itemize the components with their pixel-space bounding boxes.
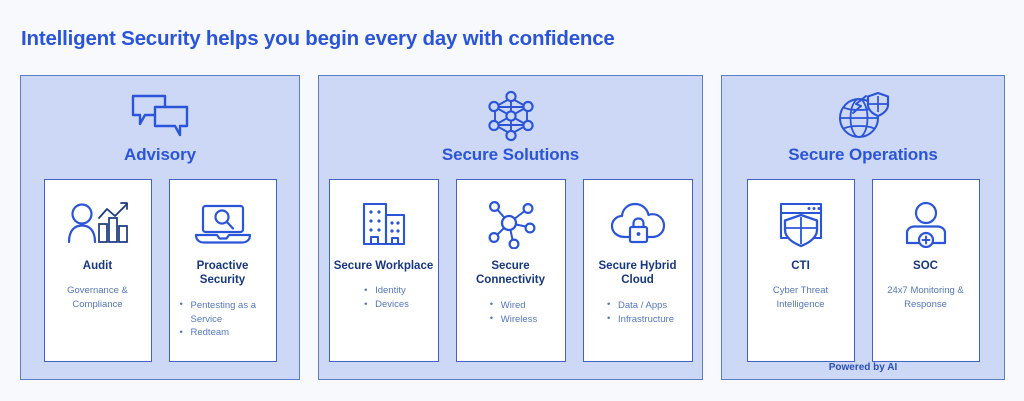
list-item: Pentesting as a Service: [180, 299, 272, 327]
card-cti[interactable]: CTI Cyber Threat Intelligence: [747, 179, 855, 362]
card-secure-connectivity[interactable]: Secure Connectivity Wired Wireless: [456, 179, 566, 362]
cards-secure-solutions: Secure Workplace Identity Devices: [329, 179, 693, 362]
person-bar-chart-icon: [65, 198, 131, 250]
card-list-secure-connectivity: Wired Wireless: [480, 299, 541, 327]
list-item: Wireless: [490, 313, 537, 327]
panel-advisory: Advisory Audit Governance & Comp: [20, 75, 300, 380]
card-title-audit: Audit: [79, 259, 116, 273]
card-list-proactive-security: Pentesting as a Service Redteam: [170, 299, 276, 340]
hub-nodes-icon: [485, 198, 537, 250]
card-desc-cti: Cyber Threat Intelligence: [748, 284, 854, 312]
card-title-secure-connectivity: Secure Connectivity: [457, 259, 565, 288]
panel-title-advisory: Advisory: [124, 145, 196, 165]
card-secure-workplace[interactable]: Secure Workplace Identity Devices: [329, 179, 439, 362]
list-item: Wired: [490, 299, 537, 313]
panels-row: Advisory Audit Governance & Comp: [20, 75, 1005, 380]
laptop-magnifier-icon: [193, 198, 253, 250]
person-badge-icon: [900, 198, 952, 250]
list-item: Devices: [364, 298, 409, 312]
card-title-soc: SOC: [909, 259, 942, 273]
list-item: Identity: [364, 284, 409, 298]
card-title-secure-workplace: Secure Workplace: [330, 259, 438, 273]
browser-shield-icon: [773, 198, 829, 250]
panel-secure-solutions: Secure Solutions: [318, 75, 703, 380]
card-audit[interactable]: Audit Governance & Compliance: [44, 179, 152, 362]
list-item: Redteam: [180, 326, 272, 340]
powered-by-ai-label: Powered by AI: [722, 362, 1004, 373]
card-desc-audit: Governance & Compliance: [45, 284, 151, 312]
buildings-icon: [358, 198, 410, 250]
speech-bubbles-icon: [129, 91, 191, 141]
globe-shield-icon: [835, 91, 891, 141]
card-desc-soc: 24x7 Monitoring & Response: [873, 284, 979, 312]
cloud-lock-icon: [609, 198, 667, 250]
card-title-proactive-security: Proactive Security: [170, 259, 276, 288]
list-item: Infrastructure: [607, 313, 674, 327]
card-list-secure-workplace: Identity Devices: [354, 284, 413, 312]
card-secure-hybrid-cloud[interactable]: Secure Hybrid Cloud Data / Apps Infrastr…: [583, 179, 693, 362]
cards-secure-operations: CTI Cyber Threat Intelligence SOC 24x7 M…: [747, 179, 980, 362]
panel-secure-operations: Secure Operations CTI: [721, 75, 1005, 380]
panel-title-secure-solutions: Secure Solutions: [442, 145, 579, 165]
panel-title-secure-operations: Secure Operations: [788, 145, 937, 165]
card-soc[interactable]: SOC 24x7 Monitoring & Response: [872, 179, 980, 362]
card-title-secure-hybrid-cloud: Secure Hybrid Cloud: [584, 259, 692, 288]
card-list-secure-hybrid-cloud: Data / Apps Infrastructure: [597, 299, 678, 327]
page-title: Intelligent Security helps you begin eve…: [21, 27, 615, 51]
list-item: Data / Apps: [607, 299, 674, 313]
card-proactive-security[interactable]: Proactive Security Pentesting as a Servi…: [169, 179, 277, 362]
network-hexagon-icon: [485, 91, 537, 141]
cards-advisory: Audit Governance & Compliance Proactive …: [44, 179, 277, 362]
card-title-cti: CTI: [787, 259, 814, 273]
